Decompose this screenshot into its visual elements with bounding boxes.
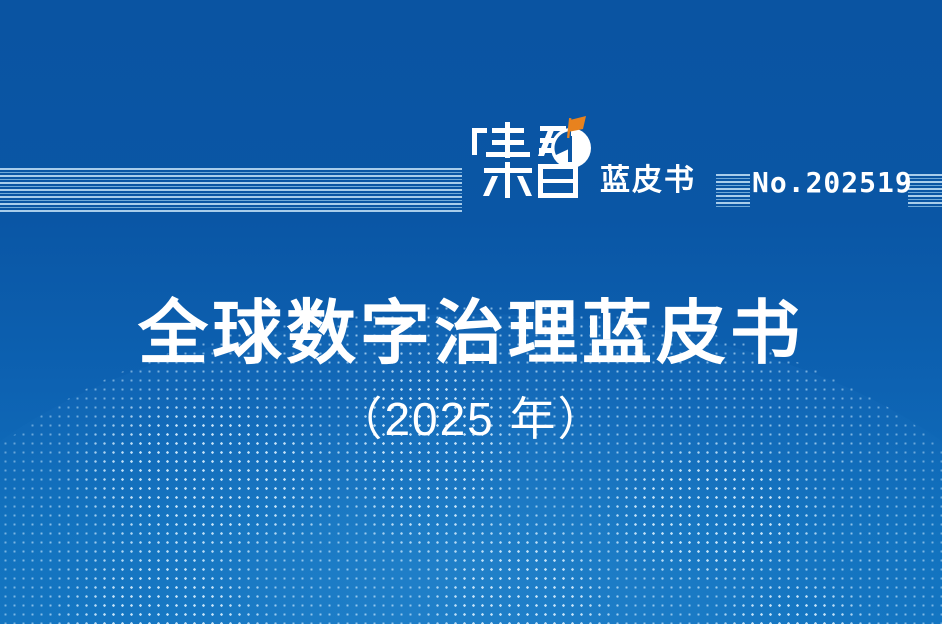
title-block: 全球数字治理蓝皮书 （2025 年） xyxy=(0,296,942,444)
series-label: 蓝皮书 xyxy=(600,166,696,204)
page-title: 全球数字治理蓝皮书 xyxy=(0,296,942,372)
stripe-band-middle xyxy=(716,174,750,208)
page-subtitle: （2025 年） xyxy=(0,394,942,445)
jizhi-logo-icon xyxy=(470,112,592,204)
brand-lockup: 蓝皮书 xyxy=(470,112,696,204)
report-cover: 蓝皮书 No.202519 全球数字治理蓝皮书 （2025 年） xyxy=(0,0,942,624)
stripe-band-right xyxy=(908,174,942,208)
issue-number: No.202519 xyxy=(752,166,913,199)
stripe-band-left xyxy=(0,168,462,213)
